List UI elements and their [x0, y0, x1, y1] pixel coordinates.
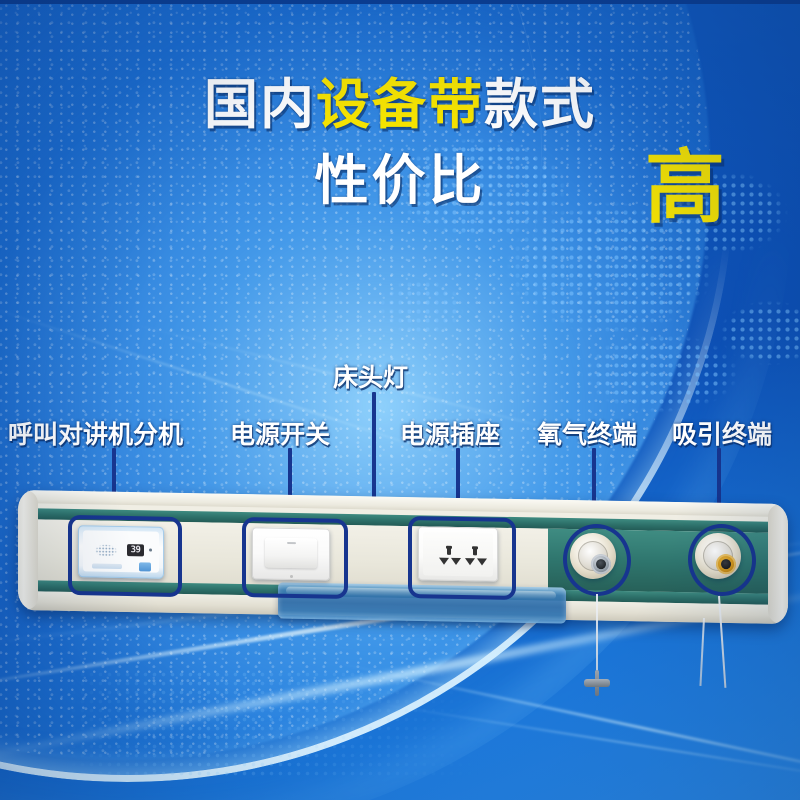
hook-horizontal-bar: [584, 679, 610, 687]
callout-box-power-switch: [242, 517, 348, 599]
callout-label-oxygen-terminal: 氧气终端: [537, 415, 637, 451]
callout-box-power-socket: [408, 516, 516, 600]
headline-emphasis-word: 高: [645, 148, 725, 228]
callout-label-suction-terminal: 吸引终端: [672, 415, 772, 451]
headline-value-phrase: 性价比: [315, 151, 486, 211]
hanging-cord-center: [596, 594, 598, 674]
headline-seg-1: 国内: [204, 75, 316, 135]
headline-seg-2: 设备带: [316, 75, 484, 135]
headline-seg-3: 款式: [484, 75, 596, 135]
cord-hook: [584, 670, 610, 696]
promo-image-canvas: 国内设备带款式 性价比 高 呼叫对讲机分机 电源开关 床头灯 电源插座 氧气终端…: [0, 0, 800, 800]
callout-circle-suction: [688, 523, 756, 596]
top-edge-bar: [0, 0, 800, 4]
callout-circle-oxygen: [563, 523, 631, 596]
headline-line-1: 国内设备带款式: [0, 78, 800, 132]
callout-label-bed-light: 床头灯: [333, 358, 408, 394]
halftone-accent: [60, 670, 480, 780]
callout-box-intercom: [68, 515, 182, 597]
panel-end-cap-right: [768, 504, 788, 624]
panel-end-cap-left: [18, 490, 38, 610]
callout-label-intercom: 呼叫对讲机分机: [8, 415, 183, 451]
callout-label-power-switch: 电源开关: [230, 415, 330, 451]
callout-label-power-socket: 电源插座: [400, 415, 500, 451]
